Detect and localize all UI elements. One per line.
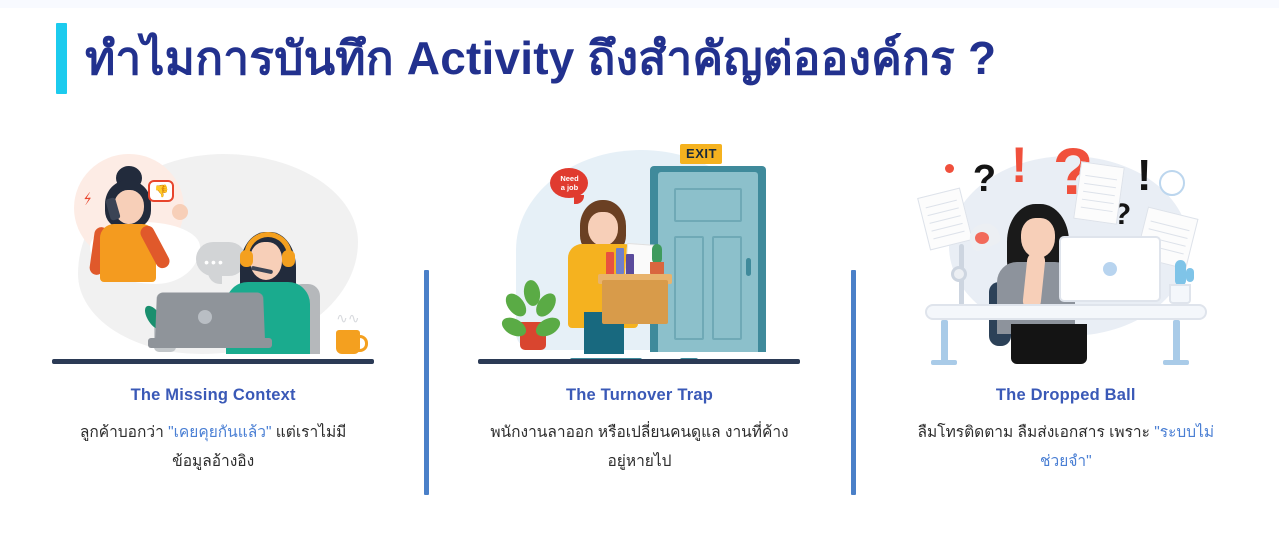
angry-customer-and-support-agent-illustration: ⚡ 👎 ••• [48,132,378,372]
cactus-pot [1169,284,1191,304]
card-description: ลูกค้าบอกว่า "เคยคุยกันแล้ว" แต่เราไม่มี… [63,419,363,476]
box-of-belongings [602,280,668,324]
accent-ring [1159,170,1185,196]
desc-prefix: พนักงานลาออก หรือเปลี่ยนคนดูแล งานที่ค้า… [490,424,788,470]
card-heading: The Dropped Ball [916,386,1216,405]
card-heading: The Missing Context [63,386,363,405]
door-panel-right [712,236,742,340]
thumbs-down-icon: 👎 [154,184,169,198]
desk-leg-right [1173,320,1180,364]
flying-paper [917,187,973,250]
bubble-line-2: a job [550,184,588,193]
card-heading: The Turnover Trap [489,386,789,405]
desk-lamp-bulb [975,232,989,244]
card-dropped-ball: ? ! ? ! ? [853,132,1279,512]
binder-blue [616,248,624,274]
question-mark-black-icon: ? [973,160,996,198]
top-band [0,0,1279,8]
worker-legs [1011,324,1087,364]
desk-top [925,304,1207,320]
employee-leaving-through-exit-door-illustration: EXIT Need a job [474,132,804,372]
accent-dot-red [945,164,954,173]
card-description: พนักงานลาออก หรือเปลี่ยนคนดูแล งานที่ค้า… [489,419,789,476]
card-caption: The Missing Context ลูกค้าบอกว่า "เคยคุย… [63,386,363,476]
laptop-logo [1103,262,1117,276]
headset-earcup-right [282,250,295,267]
steam-icon: ∿∿ [336,310,359,327]
page-header: ทำไมการบันทึก Activity ถึงสำคัญต่อองค์กร… [0,18,1279,98]
title-accent-bar [56,23,67,94]
exclamation-black-icon: ! [1137,154,1152,198]
door-panel-top [674,188,742,222]
door-panel-left [674,236,704,340]
exit-sign: EXIT [680,144,722,164]
page-title: ทำไมการบันทึก Activity ถึงสำคัญต่อองค์กร… [85,33,996,84]
customer-face [114,190,144,224]
card-missing-context: ⚡ 👎 ••• [0,132,426,512]
desk-lamp-joint [951,266,967,282]
desk-line [52,359,374,364]
cactus-arm [1186,268,1194,282]
ground-line [478,359,800,364]
chat-bubble-dots: ••• [204,254,225,270]
overwhelmed-worker-with-papers-illustration: ? ! ? ! ? [901,132,1231,372]
card-row: ⚡ 👎 ••• [0,132,1279,512]
laptop-base [148,338,272,348]
door-knob [746,258,751,276]
card-caption: The Turnover Trap พนักงานลาออก หรือเปลี่… [489,386,789,476]
coffee-mug [336,330,360,354]
page-root: ทำไมการบันทึก Activity ถึงสำคัญต่อองค์กร… [0,0,1279,540]
desc-prefix: ลืมโทรติดตาม ลืมส่งเอกสาร เพราะ [918,424,1155,441]
desk-leg-left [941,320,948,364]
flying-paper [1073,161,1125,225]
exclamation-red-icon: ! [1011,140,1028,190]
desc-quote: "เคยคุยกันแล้ว" [168,424,271,441]
headset-earcup-left [240,250,253,267]
desc-prefix: ลูกค้าบอกว่า [80,424,168,441]
card-description: ลืมโทรติดตาม ลืมส่งเอกสาร เพราะ "ระบบไม่… [916,419,1216,476]
box-cactus [652,244,662,264]
card-caption: The Dropped Ball ลืมโทรติดตาม ลืมส่งเอกส… [916,386,1216,476]
cactus [1175,260,1186,286]
card-turnover-trap: EXIT Need a job [426,132,852,512]
ground-line [905,359,1227,364]
